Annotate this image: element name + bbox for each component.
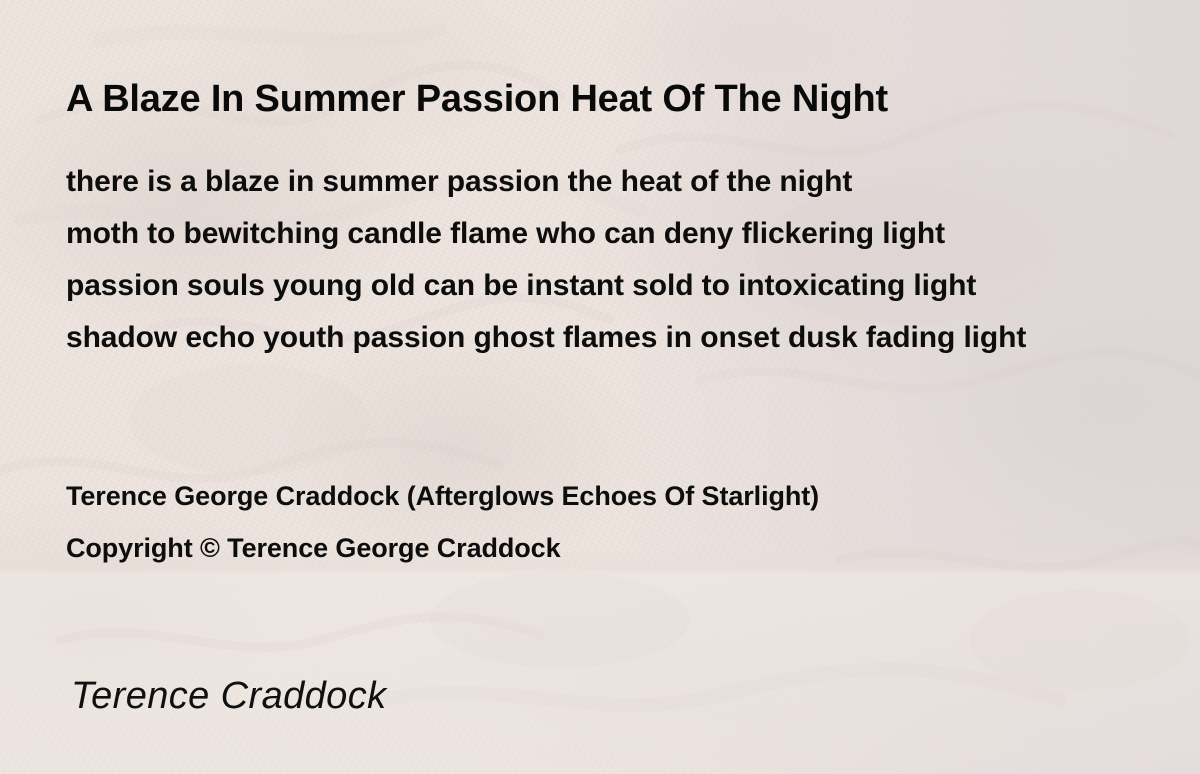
attribution-block: Terence George Craddock (Afterglows Echo… [66,470,819,574]
poem-line: there is a blaze in summer passion the h… [66,156,1156,208]
copyright-line: Copyright © Terence George Craddock [66,522,819,574]
author-signature: Terence Craddock [71,675,387,718]
poem-text-layer: A Blaze In Summer Passion Heat Of The Ni… [0,0,1200,774]
poem-image-card: A Blaze In Summer Passion Heat Of The Ni… [0,0,1200,774]
poem-line: shadow echo youth passion ghost flames i… [66,312,1156,364]
page-title: A Blaze In Summer Passion Heat Of The Ni… [66,77,888,121]
poem-body: there is a blaze in summer passion the h… [66,156,1156,364]
author-line: Terence George Craddock (Afterglows Echo… [66,470,819,522]
poem-line: moth to bewitching candle flame who can … [66,208,1156,260]
poem-line: passion souls young old can be instant s… [66,260,1156,312]
